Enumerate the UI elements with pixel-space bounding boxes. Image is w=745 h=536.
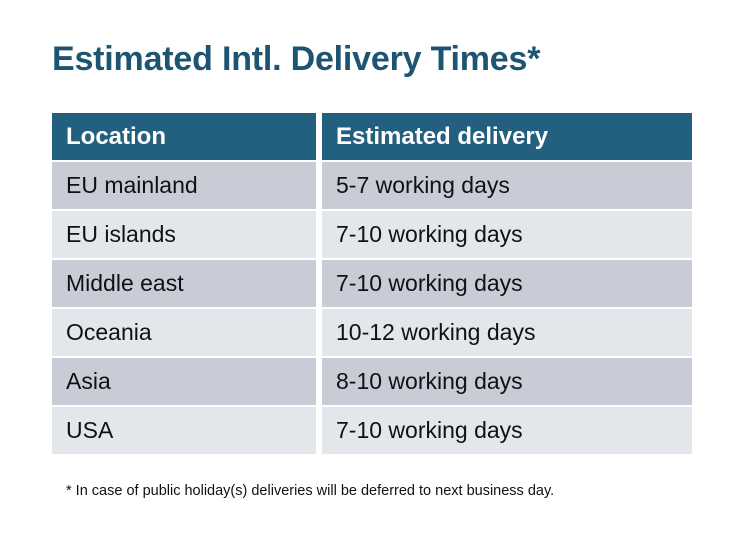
cell-location: EU mainland xyxy=(52,162,316,209)
table-row: Asia 8-10 working days xyxy=(52,358,692,405)
footnote-text: * In case of public holiday(s) deliverie… xyxy=(66,482,554,500)
delivery-times-document: Estimated Intl. Delivery Times* Location… xyxy=(0,0,745,536)
table-row: Middle east 7-10 working days xyxy=(52,260,692,307)
cell-location: Asia xyxy=(52,358,316,405)
table-row: Oceania 10-12 working days xyxy=(52,309,692,356)
table-row: EU islands 7-10 working days xyxy=(52,211,692,258)
cell-delivery: 7-10 working days xyxy=(322,260,692,307)
cell-delivery: 7-10 working days xyxy=(322,211,692,258)
table-row: EU mainland 5-7 working days xyxy=(52,162,692,209)
cell-delivery: 10-12 working days xyxy=(322,309,692,356)
column-header-location: Location xyxy=(52,113,316,160)
delivery-times-table: Location Estimated delivery EU mainland … xyxy=(52,113,692,456)
cell-delivery: 7-10 working days xyxy=(322,407,692,454)
cell-location: Oceania xyxy=(52,309,316,356)
page-title: Estimated Intl. Delivery Times* xyxy=(52,38,540,80)
cell-delivery: 5-7 working days xyxy=(322,162,692,209)
cell-delivery: 8-10 working days xyxy=(322,358,692,405)
column-header-estimated-delivery: Estimated delivery xyxy=(322,113,692,160)
cell-location: USA xyxy=(52,407,316,454)
cell-location: EU islands xyxy=(52,211,316,258)
table-header-row: Location Estimated delivery xyxy=(52,113,692,160)
cell-location: Middle east xyxy=(52,260,316,307)
table-row: USA 7-10 working days xyxy=(52,407,692,454)
